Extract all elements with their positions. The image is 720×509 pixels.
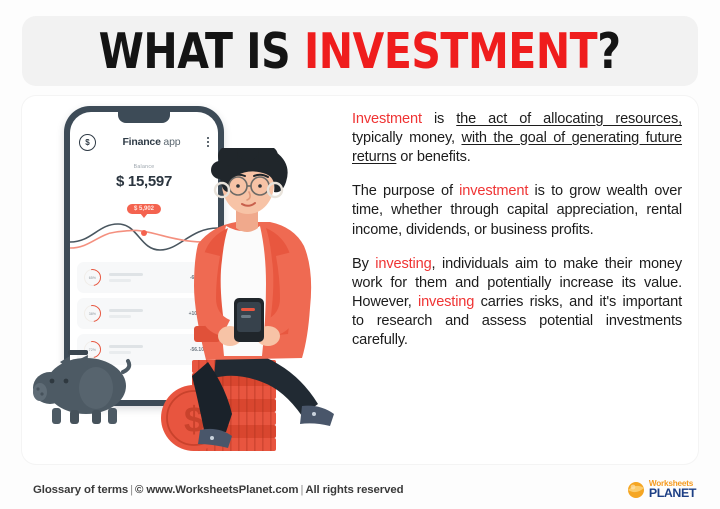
paragraph-3: By investing, individuals aim to make th… [352, 255, 682, 351]
ring-label: 65% [89, 275, 96, 279]
p2-seg-0: The purpose of [352, 183, 459, 199]
p3-seg-3: investing [418, 294, 474, 310]
progress-ring-icon: 65% [81, 266, 105, 290]
kebab-menu-icon[interactable] [207, 137, 209, 147]
title-question-mark: ? [598, 23, 621, 80]
p3-seg-0: By [352, 256, 375, 272]
footer-copyright[interactable]: © www.WorksheetsPlanet.com [135, 484, 298, 496]
p1-seg-1: is [422, 111, 456, 127]
footer: Glossary of terms|© www.WorksheetsPlanet… [0, 470, 720, 509]
logo-wordmark: Worksheets PLANET [649, 480, 696, 500]
title-red-part: INVESTMENT [304, 23, 597, 80]
dollar-coin-icon: $ [79, 134, 96, 151]
title-black-part: WHAT IS [99, 23, 304, 80]
p1-seg-0: Investment [352, 111, 422, 127]
progress-ring-icon: 38% [81, 302, 105, 326]
main-content-card: $ Finance app Balance $ 15,597 $ 5,902 [22, 96, 698, 464]
phone-notch [118, 112, 170, 123]
worksheets-planet-logo[interactable]: Worksheets PLANET [626, 480, 696, 500]
p1-seg-2: the act of allocating resources, [456, 111, 682, 127]
illustration-area: $ Finance app Balance $ 15,597 $ 5,902 [22, 96, 352, 464]
footer-separator-1: | [128, 484, 135, 496]
p2-seg-1: investment [459, 183, 528, 199]
logo-bottom-word: PLANET [649, 487, 696, 499]
page-title-banner: WHAT IS INVESTMENT? [22, 16, 698, 86]
paragraph-1: Investment is the act of allocating reso… [352, 110, 682, 167]
woman-with-phone-illustration [142, 148, 352, 448]
footer-credits: Glossary of terms|© www.WorksheetsPlanet… [33, 484, 403, 496]
app-title-bold: Finance [122, 136, 160, 148]
app-title: Finance app [96, 136, 207, 148]
p1-seg-3: typically money, [352, 130, 461, 146]
chart-tooltip: $ 5,902 [127, 204, 161, 214]
definition-text-column: Investment is the act of allocating reso… [352, 110, 682, 350]
page-title: WHAT IS INVESTMENT? [99, 27, 621, 76]
p1-seg-5: or benefits. [396, 149, 470, 165]
footer-glossary: Glossary of terms [33, 484, 128, 496]
chart-point-marker [141, 230, 147, 236]
footer-rights: All rights reserved [305, 484, 403, 496]
p3-seg-1: investing [375, 256, 431, 272]
worksheet-page: WHAT IS INVESTMENT? $ Finance app Balanc… [0, 0, 720, 509]
planet-globe-icon [626, 480, 646, 500]
piggy-bank-icon [30, 336, 134, 428]
ring-label: 38% [89, 311, 96, 315]
paragraph-2: The purpose of investment is to grow wea… [352, 182, 682, 239]
app-title-light: app [161, 136, 181, 148]
